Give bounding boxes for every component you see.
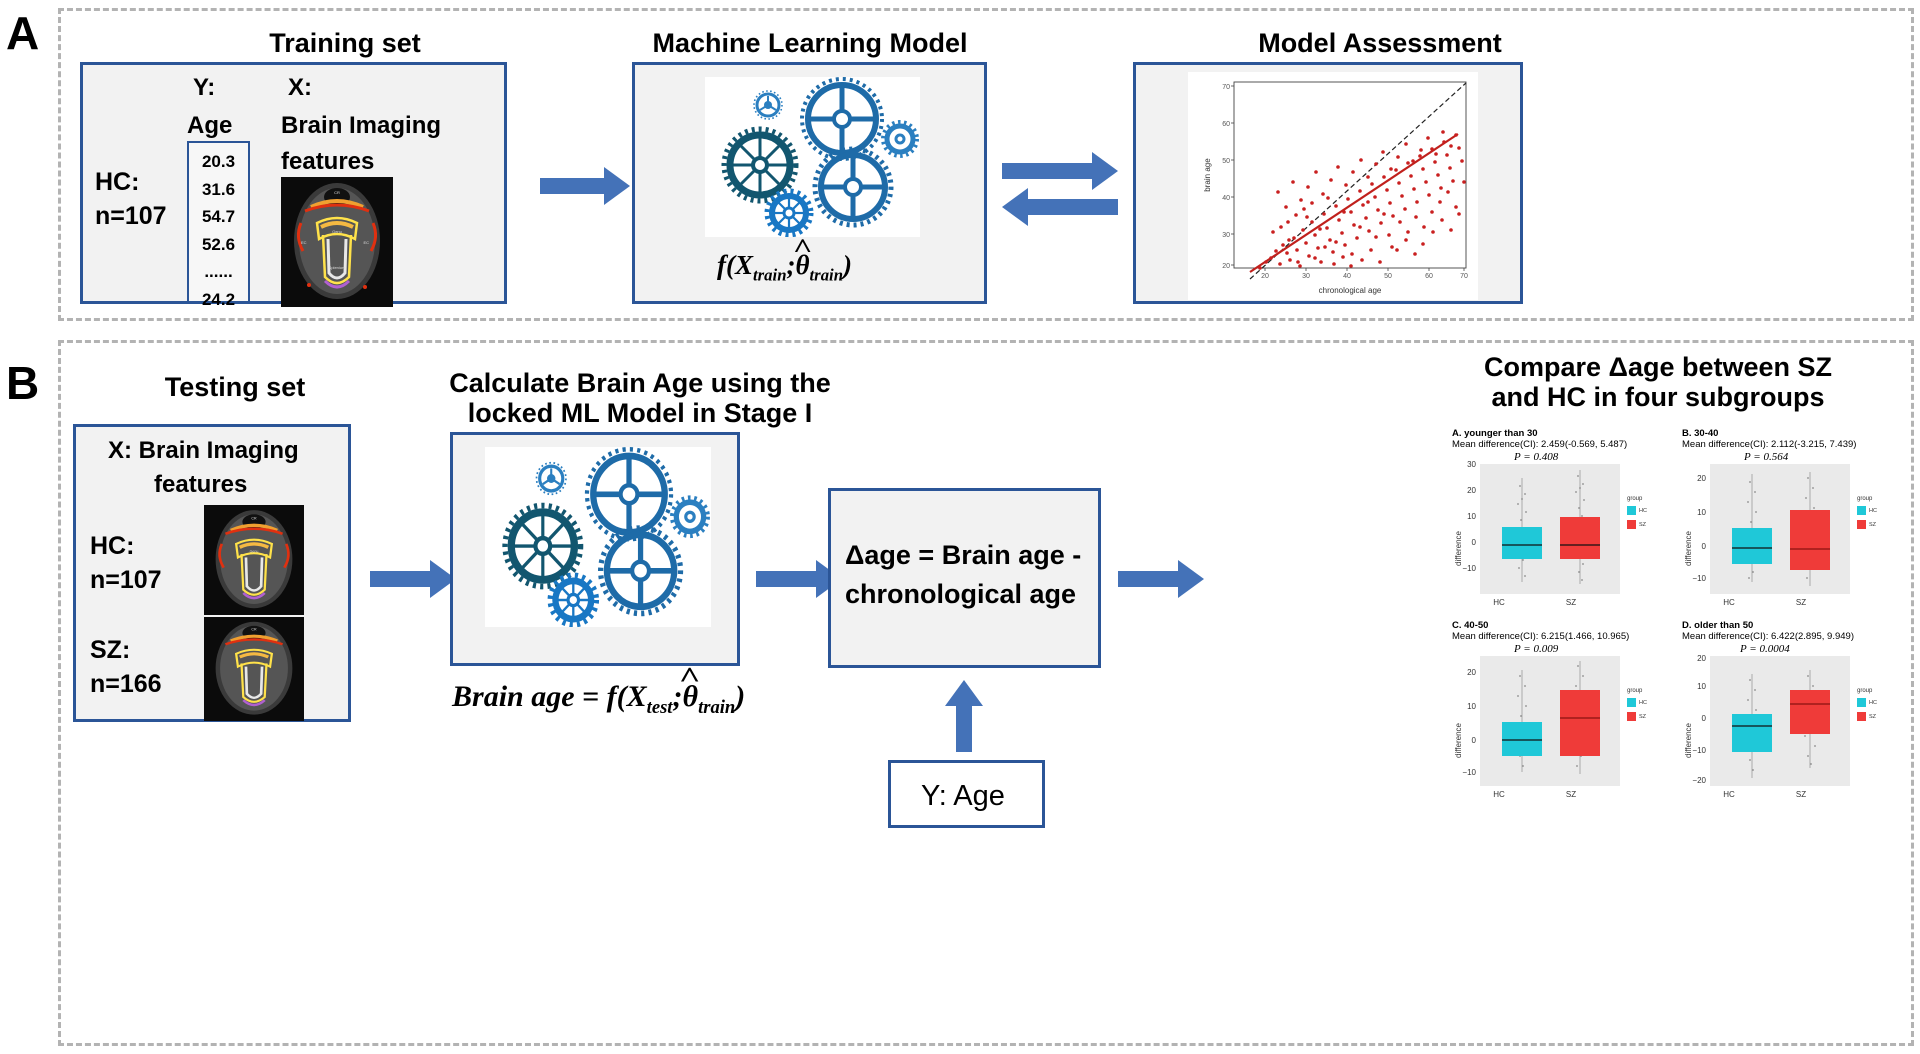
boxplot-c-xtick-hc: HC [1484,790,1514,799]
age-value: 31.6 [189,176,248,204]
svg-text:40: 40 [1222,195,1230,202]
boxplot-d-ytick: 10 [1688,682,1706,691]
brain-age-formula: Brain age = f(Xtest;θtrain) [452,680,745,719]
arrow-delta-to-compare [1118,560,1204,598]
svg-text:chronological age: chronological age [1319,286,1382,295]
boxplot-a-xtick-hc: HC [1484,598,1514,607]
svg-text:CR: CR [334,190,340,195]
svg-text:brain age: brain age [1203,158,1212,192]
boxplot-a-plot-area [1480,464,1620,594]
ml-model-box: f(Xtrain;θtrain) [632,62,987,304]
formula-close: ) [735,680,745,713]
testing-sz-line1: SZ: [90,635,130,665]
svg-text:30: 30 [1302,273,1310,280]
boxplot-b-ytick: −10 [1684,574,1706,583]
testing-hc-line2: n=107 [90,565,162,595]
svg-text:70: 70 [1222,84,1230,91]
boxplot-c-ytick: 0 [1463,736,1476,745]
train-formula: f(Xtrain;θtrain) [717,250,852,285]
arrow-testing-to-model [370,560,456,598]
calculate-heading-line1: Calculate Brain Age using the [420,368,860,398]
boxplot-c-plot-area [1480,656,1620,786]
boxplot-b-plot-area [1710,464,1850,594]
age-value: 24.2 [189,286,248,314]
boxplot-c-pvalue: P = 0.009 [1514,643,1558,655]
svg-text:40: 40 [1343,273,1351,280]
boxplot-a-legend-title: group [1627,496,1642,502]
boxplot-c-ytick: −10 [1454,768,1476,777]
gears-icon [705,77,920,237]
boxplot-c-legend-title: group [1627,688,1642,694]
boxplot-c-ylabel: difference [1454,723,1463,758]
testing-x-label-line1: X: Brain Imaging [108,437,299,466]
boxplot-c-legend-label-sz: SZ [1639,714,1646,720]
formula-x-sub: test [647,697,673,718]
formula-theta: θ [796,250,810,281]
boxplot-d-legend-label-sz: SZ [1869,714,1876,720]
boxplot-c-legend-key-sz [1627,712,1636,721]
boxplot-d-legend-title: group [1857,688,1872,694]
boxplot-c-ytick: 10 [1458,702,1476,711]
boxplot-d-title: D. older than 50 [1682,620,1753,631]
boxplot-d-meandiff: Mean difference(CI): 6.422(2.895, 9.949) [1682,631,1854,642]
formula-theta-sub: train [810,265,844,284]
formula-theta-sub: train [698,697,735,718]
scatter-svg: 706050 403020 203040 506070 [1188,72,1478,300]
testing-hc-line1: HC: [90,531,134,561]
y-age-input-box: Y: Age [888,760,1045,828]
boxplot-b-xtick-hc: HC [1714,598,1744,607]
boxplot-d-xtick-hc: HC [1714,790,1744,799]
boxplot-b-legend-key-sz [1857,520,1866,529]
boxplot-c-title: C. 40-50 [1452,620,1488,631]
boxplot-a-legend-label-hc: HC [1639,508,1647,514]
training-y-label-line2: Age [187,112,232,141]
boxplot-a-pvalue-text: P = 0.408 [1514,451,1558,463]
age-value: 52.6 [189,231,248,259]
formula-fn: f [607,680,617,713]
boxplot-a-title: A. younger than 30 [1452,428,1538,439]
boxplot-panel-c: C. 40-50 Mean difference(CI): 6.215(1.46… [1452,620,1672,805]
training-hc-line1: HC: [95,167,139,197]
model-assessment-box: 706050 403020 203040 506070 [1133,62,1523,304]
formula-theta: θ [682,680,698,714]
formula-close: ) [843,250,852,280]
boxplot-b-xtick-sz: SZ [1786,598,1816,607]
boxplot-b-ylabel: difference [1684,531,1693,566]
boxplot-b-legend-key-hc [1857,506,1866,515]
svg-text:50: 50 [1222,158,1230,165]
svg-text:CR: CR [251,516,257,520]
svg-text:EC: EC [301,240,307,245]
svg-text:20: 20 [1222,263,1230,270]
boxplot-b-ytick: 0 [1693,542,1706,551]
boxplot-b-ytick: 20 [1688,474,1706,483]
svg-text:70: 70 [1460,273,1468,280]
svg-text:20: 20 [1261,273,1269,280]
delta-age-box: Δage = Brain age - chronological age [828,488,1101,668]
boxplot-d-plot-area [1710,656,1850,786]
boxplot-c-ytick: 20 [1458,668,1476,677]
age-value: 54.7 [189,203,248,231]
testing-x-label-line2: features [154,471,247,500]
formula-fn: f [717,250,726,280]
calculate-heading-line2: locked ML Model in Stage I [420,398,860,428]
svg-text:Genu: Genu [250,549,259,553]
boxplot-a-legend-key-hc [1627,506,1636,515]
model-assessment-heading: Model Assessment [1180,28,1580,58]
formula-open: ( [617,680,627,713]
arrow-assessment-to-model [1002,188,1118,226]
testing-sz-line2: n=166 [90,669,162,699]
boxplot-d-pvalue-text: P = 0.0004 [1740,643,1790,655]
svg-text:60: 60 [1222,121,1230,128]
boxplot-d-ytick: −20 [1684,776,1706,785]
training-y-label-line1: Y: [193,74,215,103]
delta-age-line1: Δage = Brain age - [845,539,1081,571]
boxplot-a-legend-label-sz: SZ [1639,522,1646,528]
boxplot-c-pvalue-text: P = 0.009 [1514,643,1558,655]
boxplot-d-legend-label-hc: HC [1869,700,1877,706]
svg-text:60: 60 [1425,273,1433,280]
delta-age-line2: chronological age [845,578,1076,610]
boxplot-c-legend-key-hc [1627,698,1636,707]
boxplot-a-xtick-sz: SZ [1556,598,1586,607]
boxplot-b-meandiff: Mean difference(CI): 2.112(-3.215, 7.439… [1682,439,1856,450]
arrow-model-to-assessment [1002,152,1118,190]
boxplot-panel-d: D. older than 50 Mean difference(CI): 6.… [1682,620,1902,805]
boxplot-d-ytick: 20 [1688,654,1706,663]
boxplot-panel-b: B. 30-40 Mean difference(CI): 2.112(-3.2… [1682,428,1902,613]
panel-a-letter: A [6,10,39,56]
arrow-age-to-delta [945,680,983,752]
ml-model-heading: Machine Learning Model [610,28,1010,58]
boxplot-b-pvalue: P = 0.564 [1744,451,1788,463]
boxplot-b-legend-label-hc: HC [1869,508,1877,514]
compare-heading: Compare Δage between SZ and HC in four s… [1408,352,1908,412]
boxplot-b-title: B. 30-40 [1682,428,1718,439]
brain-imaging-thumbnail: CR Genu EC EC Splenium [281,177,393,307]
boxplot-a-meandiff: Mean difference(CI): 2.459(-0.569, 5.487… [1452,439,1627,450]
boxplot-a-ytick: 20 [1458,486,1476,495]
boxplot-c-xtick-sz: SZ [1556,790,1586,799]
figure-root: A Training set Y: Age X: Brain Imaging f… [0,0,1920,1054]
brain-age-scatter-plot: 706050 403020 203040 506070 [1188,72,1478,300]
boxplot-d-pvalue: P = 0.0004 [1740,643,1790,655]
compare-heading-line1: Compare Δage between SZ [1408,352,1908,382]
training-x-label-line2: Brain Imaging [281,112,441,141]
boxplot-a-legend-key-sz [1627,520,1636,529]
brain-imaging-thumbnail-sz: CR [204,617,304,721]
training-age-list-box: 20.3 31.6 54.7 52.6 ...... 24.2 [187,141,250,303]
y-age-label: Y: Age [921,779,1005,814]
age-value: ...... [189,258,248,286]
formula-lead-rest: rain age [472,680,575,713]
boxplot-a-ytick: 0 [1463,538,1476,547]
arrow-training-to-model [540,167,630,205]
boxplot-a-ytick: 30 [1458,460,1476,469]
svg-text:CR: CR [251,628,257,632]
formula-lead: B [452,680,472,713]
brain-imaging-thumbnail-hc: CR Genu [204,505,304,615]
panel-b-letter: B [6,360,39,406]
formula-equals: = [582,680,599,713]
training-hc-line2: n=107 [95,201,167,231]
boxplot-b-legend-title: group [1857,496,1872,502]
formula-x: X [735,250,753,280]
boxplot-d-legend-key-sz [1857,712,1866,721]
boxplot-panel-a: A. younger than 30 Mean difference(CI): … [1452,428,1672,613]
boxplot-b-ytick: 10 [1688,508,1706,517]
boxplot-d-legend-key-hc [1857,698,1866,707]
boxplot-c-meandiff: Mean difference(CI): 6.215(1.466, 10.965… [1452,631,1629,642]
svg-text:50: 50 [1384,273,1392,280]
boxplot-d-xtick-sz: SZ [1786,790,1816,799]
training-x-label-line1: X: [288,74,312,103]
svg-text:30: 30 [1222,232,1230,239]
svg-text:EC: EC [363,240,369,245]
training-x-label-line3: features [281,148,374,177]
testing-set-heading: Testing set [90,372,380,402]
formula-x: X [627,680,647,713]
boxplot-b-legend-label-sz: SZ [1869,522,1876,528]
svg-text:Genu: Genu [332,229,342,234]
locked-ml-model-box [450,432,740,666]
boxplot-a-ytick: −10 [1454,564,1476,573]
age-values: 20.3 31.6 54.7 52.6 ...... 24.2 [189,148,248,313]
boxplot-b-pvalue-text: P = 0.564 [1744,451,1788,463]
training-set-box: Y: Age X: Brain Imaging features HC: n=1… [80,62,507,304]
boxplot-d-ytick: −10 [1684,746,1706,755]
boxplot-a-ylabel: difference [1454,531,1463,566]
calculate-brain-age-heading: Calculate Brain Age using the locked ML … [420,368,860,428]
boxplot-d-ytick: 0 [1693,714,1706,723]
boxplot-c-legend-label-hc: HC [1639,700,1647,706]
boxplot-a-ytick: 10 [1458,512,1476,521]
testing-set-box: X: Brain Imaging features HC: n=107 SZ: … [73,424,351,722]
compare-heading-line2: and HC in four subgroups [1408,382,1908,412]
svg-text:Splenium: Splenium [329,265,346,270]
subgroup-boxplots-grid: A. younger than 30 Mean difference(CI): … [1442,428,1902,808]
formula-x-sub: train [753,265,787,284]
gears-icon [485,447,711,627]
formula-open: ( [726,250,735,280]
training-set-heading: Training set [180,28,510,58]
boxplot-a-pvalue: P = 0.408 [1514,451,1558,463]
age-value: 20.3 [189,148,248,176]
